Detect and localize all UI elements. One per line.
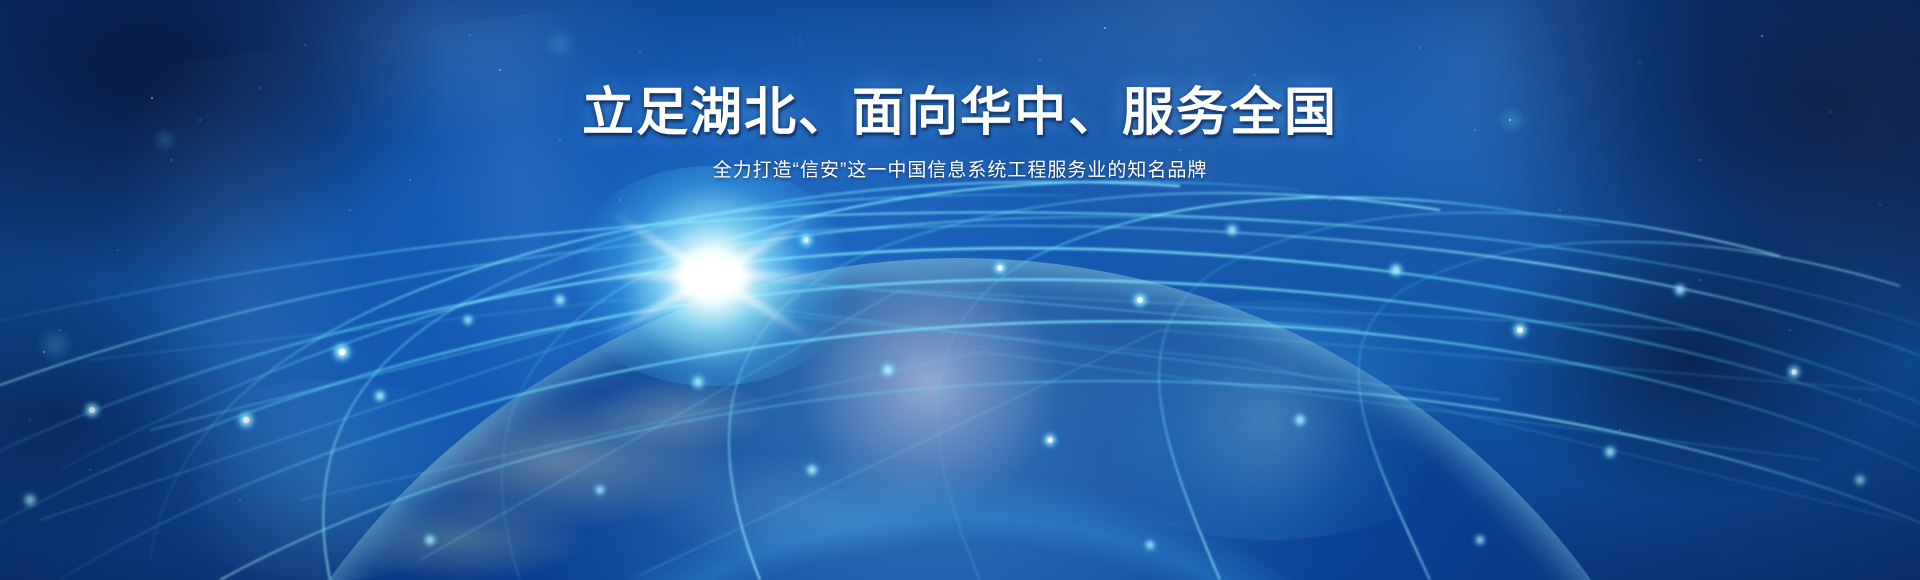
banner-headline: 立足湖北、面向华中、服务全国: [0, 84, 1920, 142]
banner-text-block: 立足湖北、面向华中、服务全国 全力打造“信安”这一中国信息系统工程服务业的知名品…: [0, 84, 1920, 184]
hero-banner: 立足湖北、面向华中、服务全国 全力打造“信安”这一中国信息系统工程服务业的知名品…: [0, 0, 1920, 580]
banner-subheadline: 全力打造“信安”这一中国信息系统工程服务业的知名品牌: [0, 158, 1920, 184]
